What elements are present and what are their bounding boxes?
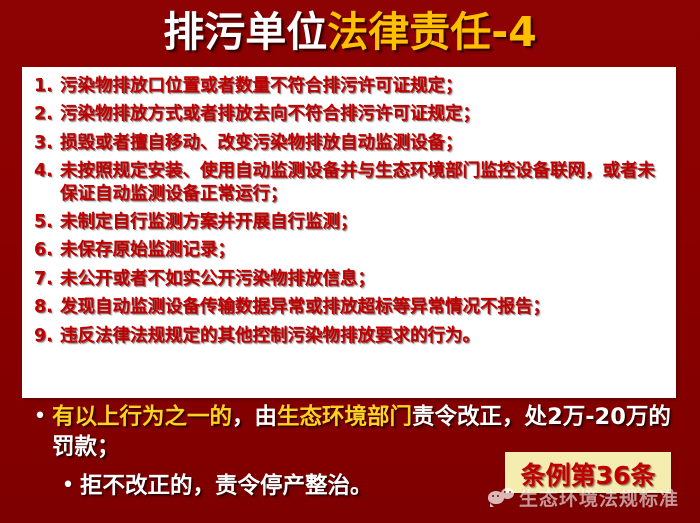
- title-gold-part: 法律责任-4: [327, 12, 537, 53]
- violations-panel: 1. 污染物排放口位置或者数量不符合排污许可证规定； 2. 污染物排放方式或者排…: [22, 67, 676, 398]
- list-item: 6. 未保存原始监测记录；: [34, 239, 666, 261]
- list-item-index: 9.: [34, 325, 60, 347]
- list-item: 2. 污染物排放方式或者排放去向不符合排污许可证规定；: [34, 103, 666, 125]
- bullet-icon: •: [28, 402, 52, 432]
- list-item-text: 污染物排放口位置或者数量不符合排污许可证规定；: [60, 75, 666, 97]
- list-item-index: 5.: [34, 211, 60, 233]
- list-item-text: 发现自动监测设备传输数据异常或排放超标等异常情况不报告；: [60, 296, 666, 318]
- penalty-segment-white-4: 拒不改正的，责令停产整治。: [80, 473, 373, 499]
- list-item: 5. 未制定自行监测方案并开展自行监测；: [34, 211, 666, 233]
- list-item-index: 4.: [34, 160, 60, 182]
- list-item-index: 3.: [34, 132, 60, 154]
- list-item-index: 1.: [34, 75, 60, 97]
- title-white-part: 排污单位: [163, 12, 327, 53]
- list-item-text: 污染物排放方式或者排放去向不符合排污许可证规定；: [60, 103, 666, 125]
- list-item-text: 未保存原始监测记录；: [60, 239, 666, 261]
- bullet-icon: •: [56, 471, 80, 501]
- list-item: 8. 发现自动监测设备传输数据异常或排放超标等异常情况不报告；: [34, 296, 666, 318]
- list-item-text: 未制定自行监测方案并开展自行监测；: [60, 211, 666, 233]
- list-item-text: 违反法律法规规定的其他控制污染物排放要求的行为。: [60, 325, 666, 347]
- list-item: 3. 损毁或者擅自移动、改变污染物排放自动监测设备；: [34, 132, 666, 154]
- penalty-segment-gold-1: 有以上行为之一的: [52, 404, 232, 430]
- list-item-index: 6.: [34, 239, 60, 261]
- list-item: 4. 未按照规定安装、使用自动监测设备并与生态环境部门监控设备联网，或者未保证自…: [34, 160, 666, 205]
- list-item-text: 未公开或者不如实公开污染物排放信息；: [60, 268, 666, 290]
- penalty-segment-gold-2: 生态环境部门: [277, 404, 412, 430]
- list-item-index: 2.: [34, 103, 60, 125]
- list-item: 9. 违反法律法规规定的其他控制污染物排放要求的行为。: [34, 325, 666, 347]
- list-item-index: 8.: [34, 296, 60, 318]
- penalty-segment-white-1: ，由: [232, 404, 277, 430]
- reference-badge-label: 条例第36条: [521, 456, 656, 492]
- list-item-text: 未按照规定安装、使用自动监测设备并与生态环境部门监控设备联网，或者未保证自动监测…: [60, 160, 666, 205]
- violations-list: 1. 污染物排放口位置或者数量不符合排污许可证规定； 2. 污染物排放方式或者排…: [34, 75, 666, 347]
- list-item-text: 损毁或者擅自移动、改变污染物排放自动监测设备；: [60, 132, 666, 154]
- list-item: 1. 污染物排放口位置或者数量不符合排污许可证规定；: [34, 75, 666, 97]
- penalty-segment-white-2: 责令改正，处: [412, 404, 547, 430]
- status-badge: 条例第36条: [505, 452, 671, 493]
- list-item-index: 7.: [34, 268, 60, 290]
- slide-canvas: 排污单位法律责任-4 1. 污染物排放口位置或者数量不符合排污许可证规定； 2.…: [0, 0, 700, 523]
- page-title: 排污单位法律责任-4: [0, 4, 700, 60]
- list-item: 7. 未公开或者不如实公开污染物排放信息；: [34, 268, 666, 290]
